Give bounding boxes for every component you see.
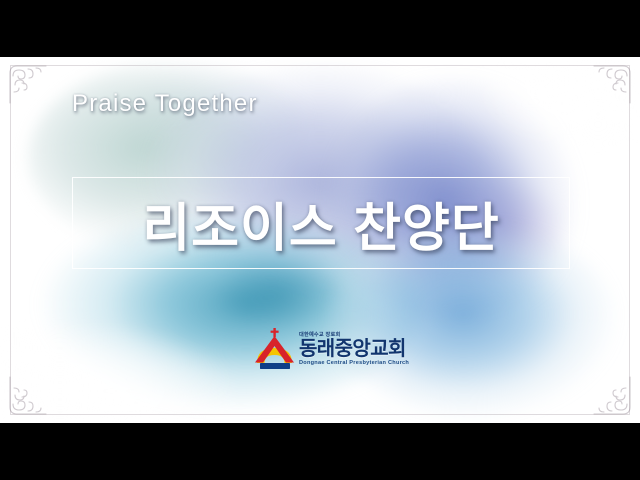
slide-eyebrow-text: Praise Together xyxy=(72,90,258,118)
corner-flourish-icon xyxy=(6,373,52,419)
slide-title-box: 리조이스 찬양단 xyxy=(72,177,570,269)
corner-flourish-icon xyxy=(6,61,52,107)
letterbox-top xyxy=(0,0,640,57)
corner-flourish-icon xyxy=(588,61,634,107)
church-logo: 대한예수교 장로회 동래중앙교회 Dongnae Central Presbyt… xyxy=(253,322,413,378)
church-roof-cross-icon xyxy=(253,327,297,373)
slide-canvas: Praise Together 리조이스 찬양단 xyxy=(0,57,640,423)
video-slide-screenshot: Praise Together 리조이스 찬양단 xyxy=(0,0,640,480)
letterbox-bottom xyxy=(0,423,640,480)
watercolor-highlight-right xyxy=(430,57,640,177)
logo-church-name-ko: 동래중앙교회 xyxy=(299,339,406,359)
logo-church-name-en: Dongnae Central Presbyterian Church xyxy=(299,361,409,367)
slide-title-text: 리조이스 찬양단 xyxy=(142,186,499,261)
church-logo-text: 대한예수교 장로회 동래중앙교회 Dongnae Central Presbyt… xyxy=(299,333,409,367)
corner-flourish-icon xyxy=(588,373,634,419)
